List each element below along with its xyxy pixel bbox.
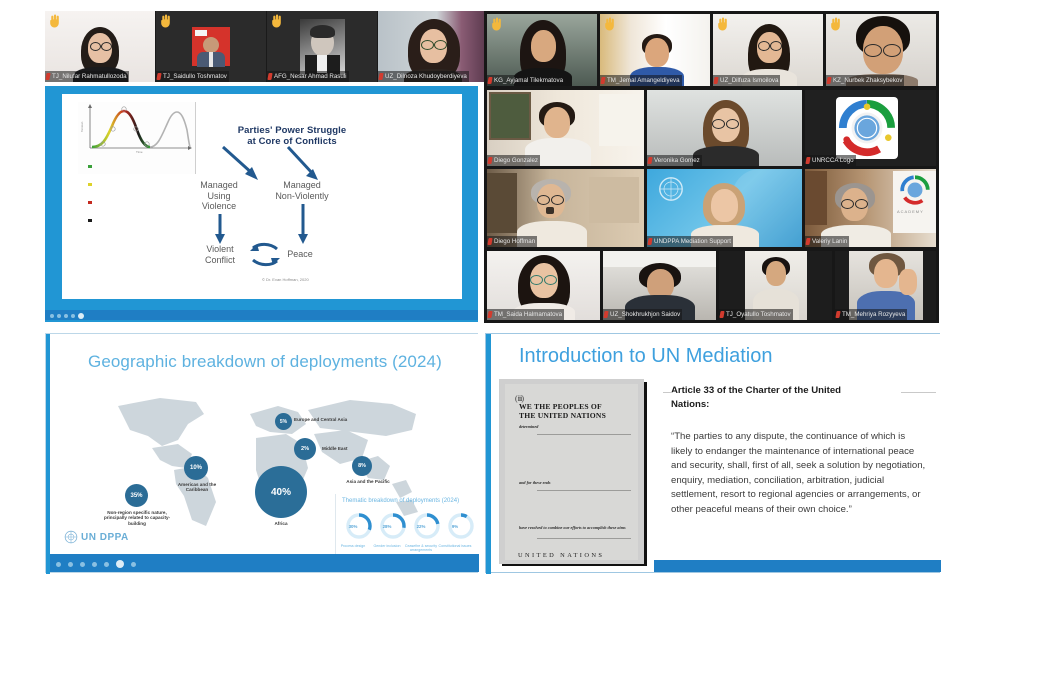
mic-muted-icon — [835, 311, 840, 318]
cycle-arrows-icon — [248, 242, 282, 268]
participant-name: Valeriy Lanin — [812, 236, 847, 247]
raised-hand-icon — [159, 14, 172, 28]
divider — [901, 392, 936, 393]
mic-muted-icon — [487, 157, 492, 164]
bubble-americas-caribbean: 10% — [184, 456, 208, 480]
un-charter-image: (iii) WE THE PEOPLES OF THE UNITED NATIO… — [499, 379, 644, 564]
participant-name-bar: UZ_Dilnoza Khudoyberdiyeva — [378, 71, 469, 82]
taskbar-icon[interactable] — [50, 314, 54, 318]
participant-name: TJ_Oyatullo Toshmatov — [726, 309, 791, 320]
node-managed-using-violence: Managed Using Violence — [184, 180, 254, 212]
shared-screen-un-mediation-slide[interactable]: Introduction to UN Mediation (iii) WE TH… — [485, 333, 940, 573]
participant-name-bar: Valeriy Lanin — [805, 236, 849, 247]
donut-label: Process design — [336, 544, 370, 548]
video-tile[interactable]: TJ_Oyatullo Toshmatov — [719, 251, 832, 320]
participant-name-bar: UNDPPA Mediation Support — [647, 236, 733, 247]
video-tile[interactable]: UZ_Dilfuza Ismoilova — [713, 14, 823, 86]
participant-name-bar: KZ_Nurbek Zhaksybekov — [826, 75, 904, 86]
bubble-label: Africa — [256, 521, 306, 526]
donut-value: 9% — [444, 521, 466, 531]
raised-hand-icon — [490, 17, 503, 31]
participant-name: UZ_Dilfuza Ismoilova — [720, 75, 778, 86]
slide-canvas: Introduction to UN Mediation (iii) WE TH… — [491, 334, 941, 566]
participant-name: KZ_Nurbek Zhaksybekov — [833, 75, 902, 86]
mic-muted-icon — [647, 157, 652, 164]
mic-muted-icon — [805, 157, 810, 164]
mic-muted-icon — [719, 311, 724, 318]
participant-name: Veronika Gomez — [654, 155, 700, 166]
mic-muted-icon — [647, 238, 652, 245]
escalation-legend — [88, 158, 132, 230]
arrow-down-right-icon — [280, 144, 324, 184]
participant-name-bar: TJ_Saidullo Toshmatov — [156, 71, 229, 82]
arrow-down-icon — [296, 202, 310, 246]
node-managed-non-violently: Managed Non-Violently — [260, 180, 344, 201]
arrow-down-left-icon — [220, 144, 264, 184]
donut-label: Ceasefire & security arrangements — [404, 544, 438, 553]
un-emblem-icon — [64, 530, 78, 544]
mic-muted-icon — [487, 311, 492, 318]
participant-name: Diego Hoffman — [494, 236, 535, 247]
node-violent-conflict: Violent Conflict — [184, 244, 256, 265]
video-tile[interactable]: UNDPPA Mediation Support — [647, 169, 802, 247]
video-tile[interactable]: Diego Gonzalez — [487, 90, 644, 166]
article-heading: Article 33 of the Charter of the United … — [671, 384, 931, 411]
toolbar-icon[interactable] — [56, 562, 61, 567]
shared-screen-conflict-slide[interactable]: Tension Time Parties' Power Struggle at … — [45, 86, 478, 322]
arrow-down-icon — [213, 212, 227, 246]
mic-muted-icon — [600, 77, 605, 84]
mic-muted-icon — [826, 77, 831, 84]
participant-name-bar: Diego Hoffman — [487, 236, 537, 247]
donut-value: 22% — [410, 521, 432, 531]
escalation-curve-thumbnail: Tension Time — [78, 102, 196, 174]
taskbar-icon[interactable] — [78, 313, 84, 319]
video-tile[interactable]: UZ_Shokhrukhjon Saidov — [603, 251, 716, 320]
donut-value: 30% — [342, 521, 364, 531]
video-tile[interactable]: ACADEMY Valeriy Lanin — [805, 169, 936, 247]
powerpoint-status-bar — [654, 560, 941, 572]
article-quote: “The parties to any dispute, the continu… — [671, 430, 927, 518]
video-tile[interactable]: TM_Jemal Amangeldiyeva — [600, 14, 710, 86]
participant-name: TJ_Nilufar Rahmatullozoda — [52, 71, 127, 82]
video-tile[interactable]: AFG_Nesar Ahmad Rasuli — [267, 11, 377, 82]
more-options-icon[interactable] — [116, 560, 124, 568]
slide-title: Geographic breakdown of deployments (202… — [88, 352, 442, 372]
participant-name-bar: UZ_Shokhrukhjon Saidov — [603, 309, 682, 320]
bubble-label: Asia and the Pacific — [338, 479, 398, 484]
participant-name: AFG_Nesar Ahmad Rasuli — [274, 71, 347, 82]
participant-name: UNDPPA Mediation Support — [654, 236, 731, 247]
bubble-middle-east: 2% — [294, 438, 316, 460]
grid-icon[interactable] — [92, 562, 97, 567]
participant-name-bar: TM_Jemal Amangeldiyeva — [600, 75, 682, 86]
video-tile[interactable]: Veronika Gomez — [647, 90, 802, 166]
participant-name-bar: Diego Gonzalez — [487, 155, 540, 166]
mic-muted-icon — [805, 238, 810, 245]
video-tile[interactable]: KG_Ayjamal Tilekmatova — [487, 14, 597, 86]
divider — [663, 392, 673, 393]
raised-hand-icon — [48, 14, 61, 28]
bubble-label: Non-region specific nature, principally … — [102, 510, 172, 526]
slide-title: Introduction to UN Mediation — [519, 345, 772, 368]
donut-label: Gender inclusion — [370, 544, 404, 548]
participant-name: KG_Ayjamal Tilekmatova — [494, 75, 563, 86]
bubble-label: Middle East — [322, 446, 382, 451]
bubble-label: Americas and the Caribbean — [166, 482, 228, 493]
slide-credit: © Dr. Evan Hoffman, 2020 — [262, 277, 309, 282]
screenshot-root: TJ_Nilufar Rahmatullozoda TJ_Saidullo To… — [0, 0, 1042, 695]
participant-name: Diego Gonzalez — [494, 155, 538, 166]
slide-canvas: Geographic breakdown of deployments (202… — [50, 334, 479, 556]
slide-canvas: Tension Time Parties' Power Struggle at … — [62, 94, 462, 299]
participant-name-bar: TM_Mehriya Rozyyeva — [835, 309, 907, 320]
participant-name-bar: UZ_Dilfuza Ismoilova — [713, 75, 780, 86]
bubble-europe-central-asia: 5% — [275, 413, 292, 430]
laser-icon[interactable] — [80, 562, 85, 567]
video-tile[interactable]: UZ_Dilnoza Khudoyberdiyeva — [378, 11, 485, 82]
video-tile[interactable]: KZ_Nurbek Zhaksybekov — [826, 14, 936, 86]
raised-hand-icon — [716, 17, 729, 31]
video-tile[interactable]: TJ_Nilufar Rahmatullozoda — [45, 11, 155, 82]
participant-name-bar: TJ_Nilufar Rahmatullozoda — [45, 71, 129, 82]
thematic-breakdown-title: Thematic breakdown of deployments (2024) — [342, 498, 459, 504]
participant-name-bar: TM_Saida Halmamatova — [487, 309, 564, 320]
participant-name: TM_Mehriya Rozyyeva — [842, 309, 905, 320]
mic-muted-icon — [603, 311, 608, 318]
bubble-label: Europe and Central Asia — [294, 417, 384, 422]
donut-value: 28% — [376, 521, 398, 531]
fullscreen-icon[interactable] — [131, 562, 136, 567]
mic-muted-icon — [487, 77, 492, 84]
participant-name: TJ_Saidullo Toshmatov — [163, 71, 227, 82]
mic-muted-icon — [156, 73, 161, 80]
powerpoint-toolbar-icons[interactable] — [56, 560, 136, 568]
donut-label: Constitutional issues — [438, 544, 472, 548]
participant-name-bar: AFG_Nesar Ahmad Rasuli — [267, 71, 349, 82]
taskbar-icon[interactable] — [57, 314, 61, 318]
un-dppa-logo: UN DPPA — [64, 530, 129, 544]
participant-name-bar: UNRCCA Logo — [805, 155, 856, 166]
bubble-africa: 40% — [255, 466, 307, 518]
video-strip-top: TJ_Nilufar Rahmatullozoda TJ_Saidullo To… — [45, 11, 485, 82]
participant-name-bar: Veronika Gomez — [647, 155, 702, 166]
participant-name: UNRCCA Logo — [812, 155, 854, 166]
video-gallery: KG_Ayjamal Tilekmatova TM_Jemal Amangeld… — [484, 11, 939, 323]
pen-icon[interactable] — [68, 562, 73, 567]
mic-muted-icon — [378, 73, 383, 80]
mic-muted-icon — [45, 73, 50, 80]
video-tile[interactable]: UNRCCA Logo — [805, 90, 936, 166]
video-tile[interactable]: TM_Saida Halmamatova — [487, 251, 600, 320]
participant-name: TM_Jemal Amangeldiyeva — [607, 75, 680, 86]
raised-hand-icon — [603, 17, 616, 31]
participant-name: TM_Saida Halmamatova — [494, 309, 562, 320]
mic-muted-icon — [713, 77, 718, 84]
participant-name: UZ_Dilnoza Khudoyberdiyeva — [385, 71, 467, 82]
video-tile[interactable]: TM_Mehriya Rozyyeva — [835, 251, 936, 320]
raised-hand-icon — [270, 14, 283, 28]
participant-name: UZ_Shokhrukhjon Saidov — [610, 309, 680, 320]
participant-name-bar: TJ_Oyatullo Toshmatov — [719, 309, 793, 320]
bubble-asia-pacific: 8% — [352, 456, 372, 476]
bubble-non-region-specific: 35% — [125, 484, 148, 507]
video-tile[interactable]: Diego Hoffman — [487, 169, 644, 247]
svg-text:Time: Time — [136, 150, 143, 154]
dppa-logo-text: UN DPPA — [81, 532, 129, 543]
mic-muted-icon — [487, 238, 492, 245]
video-tile[interactable]: TJ_Saidullo Toshmatov — [156, 11, 266, 82]
zoom-icon[interactable] — [104, 562, 109, 567]
mic-muted-icon — [267, 73, 272, 80]
svg-text:Tension: Tension — [80, 121, 84, 132]
taskbar-icon[interactable] — [71, 314, 75, 318]
raised-hand-icon — [829, 17, 842, 31]
shared-screen-map-slide[interactable]: Geographic breakdown of deployments (202… — [45, 333, 478, 573]
taskbar-icon[interactable] — [64, 314, 68, 318]
participant-name-bar: KG_Ayjamal Tilekmatova — [487, 75, 565, 86]
